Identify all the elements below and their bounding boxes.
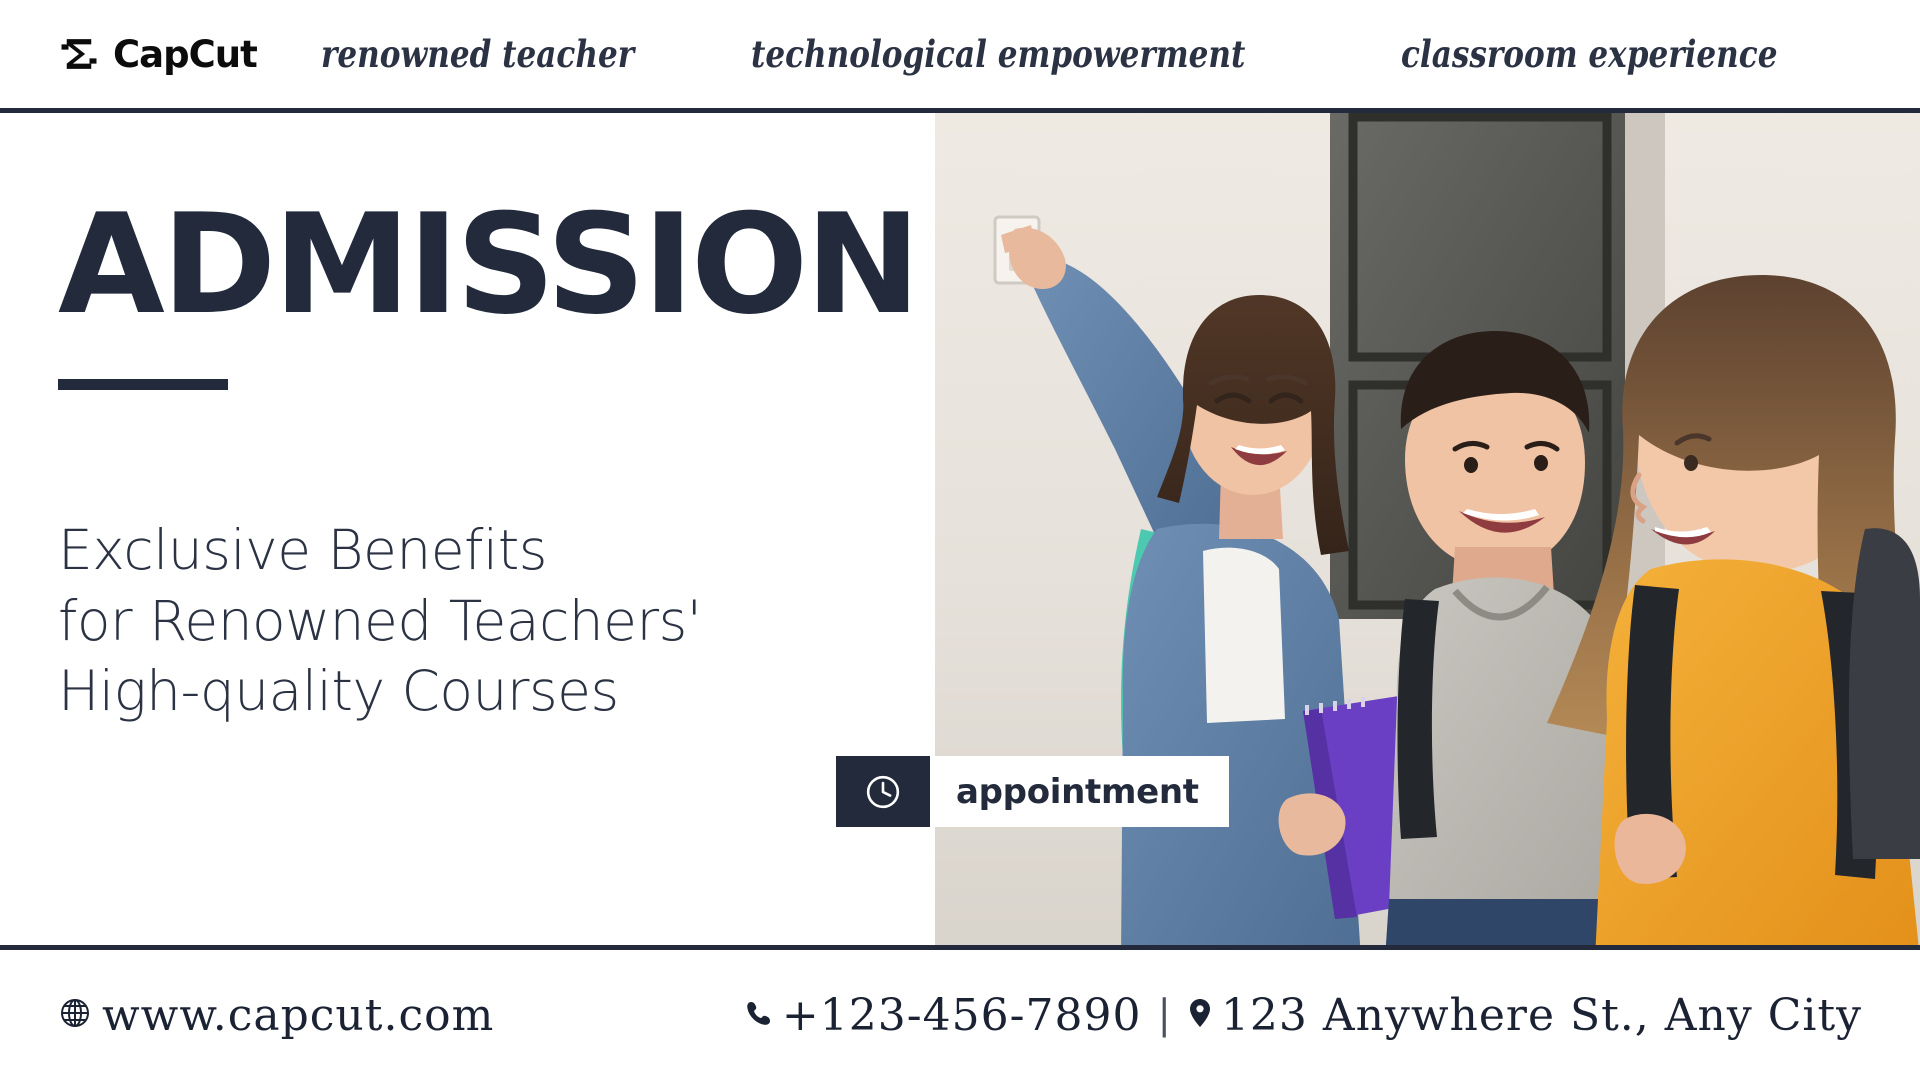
- main-content: ADMISSION Exclusive Benefits for Renowne…: [0, 113, 1920, 950]
- clock-icon: [836, 756, 930, 827]
- subheading-line-2: for Renowned Teachers': [58, 586, 935, 656]
- location-pin-icon: [1187, 997, 1213, 1034]
- capcut-logo-icon: [58, 33, 100, 75]
- address-label: 123 Anywhere St., Any City: [1221, 990, 1862, 1041]
- footer-separator: |: [1157, 992, 1170, 1038]
- appointment-badge[interactable]: appointment: [836, 756, 1229, 827]
- tagline-list: renowned teacher technological empowerme…: [321, 32, 1920, 76]
- phone-icon: [744, 998, 774, 1033]
- address-group[interactable]: 123 Anywhere St., Any City: [1187, 990, 1862, 1041]
- subheading-line-1: Exclusive Benefits: [58, 515, 935, 585]
- subheading: Exclusive Benefits for Renowned Teachers…: [58, 515, 935, 726]
- brand[interactable]: CapCut: [58, 33, 257, 75]
- header-bar: CapCut renowned teacher technological em…: [0, 0, 1920, 113]
- tagline-technological-empowerment: technological empowerment: [751, 32, 1297, 76]
- tagline-renowned-teacher: renowned teacher: [321, 32, 682, 76]
- brand-name: CapCut: [113, 36, 257, 73]
- page-title: ADMISSION: [58, 199, 935, 331]
- website-label: www.capcut.com: [102, 990, 494, 1041]
- title-divider: [58, 379, 228, 390]
- footer-bar: www.capcut.com +123-456-7890 |: [0, 950, 1920, 1080]
- appointment-label: appointment: [930, 756, 1229, 827]
- phone-label: +123-456-7890: [782, 990, 1142, 1041]
- website-group[interactable]: www.capcut.com: [58, 990, 494, 1041]
- left-text-panel: ADMISSION Exclusive Benefits for Renowne…: [0, 113, 935, 945]
- contact-group: +123-456-7890 | 123 Anywhere St., Any Ci…: [744, 990, 1862, 1041]
- globe-icon: [58, 996, 92, 1035]
- subheading-line-3: High-quality Courses: [58, 656, 935, 726]
- tagline-classroom-experience: classroom experience: [1401, 32, 1771, 76]
- phone-group[interactable]: +123-456-7890: [744, 990, 1142, 1041]
- admission-poster: CapCut renowned teacher technological em…: [0, 0, 1920, 1080]
